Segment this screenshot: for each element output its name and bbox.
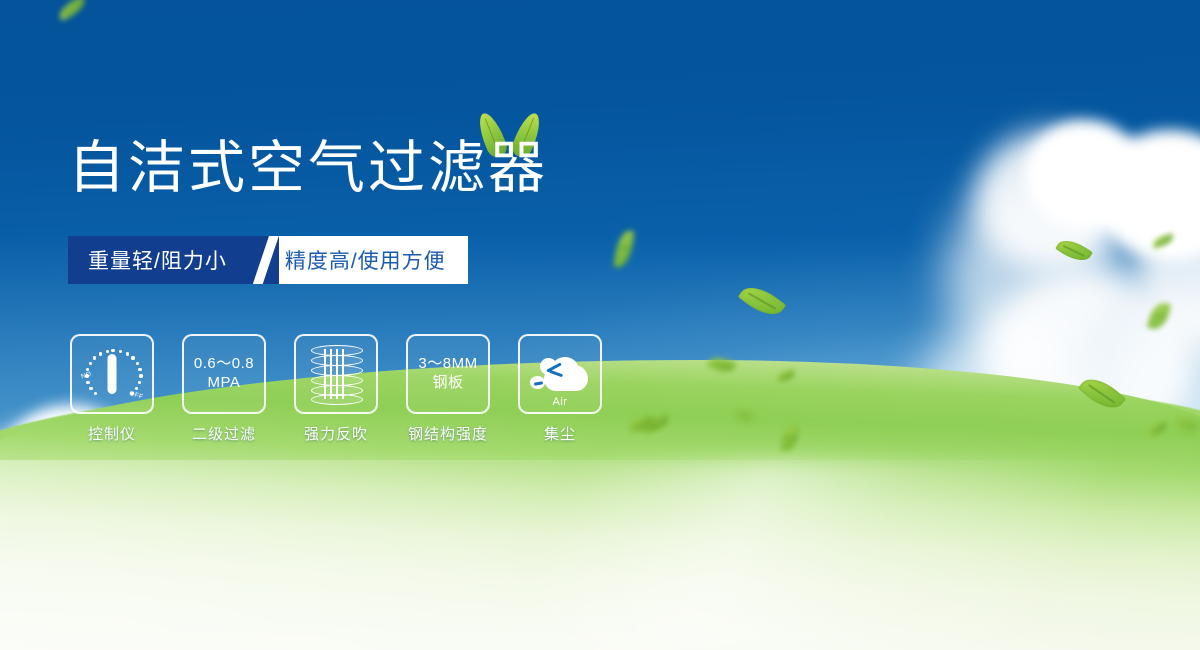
filter-stack-icon <box>311 345 361 403</box>
feature-label: 控制仪 <box>88 423 136 444</box>
steel-line-2: 钢板 <box>418 374 477 393</box>
air-cloud-icon: Air <box>530 355 590 395</box>
feature-label: 集尘 <box>544 423 576 444</box>
feature-icon-box: NO OFF <box>70 334 154 414</box>
page-title: 自洁式空气过滤器 <box>68 140 548 197</box>
feature-item-dust[interactable]: Air 集尘 <box>516 334 604 444</box>
pressure-line-1: 0.6～0.8 <box>194 355 254 374</box>
feature-item-filtration[interactable]: 0.6～0.8 MPA 二级过滤 <box>180 334 268 444</box>
subtitle-right: 精度高/使用方便 <box>279 236 468 284</box>
feature-icon-box <box>294 334 378 414</box>
dial-off-label: OFF <box>128 390 144 401</box>
dial-needle <box>108 354 117 394</box>
air-label: Air <box>553 396 568 408</box>
subtitle-left: 重量轻/阻力小 <box>68 236 253 284</box>
subtitle-banner: 重量轻/阻力小 精度高/使用方便 <box>68 236 468 284</box>
control-dial-icon: NO OFF <box>81 345 143 403</box>
feature-icon-box: 0.6～0.8 MPA <box>182 334 266 414</box>
subtitle-divider <box>253 236 279 284</box>
feature-label: 钢结构强度 <box>408 423 488 444</box>
promo-banner: 自洁式空气过滤器 重量轻/阻力小 精度高/使用方便 <box>0 0 1200 650</box>
pressure-line-2: MPA <box>194 374 254 393</box>
feature-icon-box: Air <box>518 334 602 414</box>
feature-item-steel[interactable]: 3～8MM 钢板 钢结构强度 <box>404 334 492 444</box>
steel-line-1: 3～8MM <box>418 355 477 374</box>
feature-list: NO OFF 控制仪 0.6～0.8 MPA 二级过滤 <box>68 334 604 444</box>
dial-no-label: NO <box>80 371 92 381</box>
feature-icon-box: 3～8MM 钢板 <box>406 334 490 414</box>
feature-label: 二级过滤 <box>192 423 256 444</box>
feature-label: 强力反吹 <box>304 423 368 444</box>
pressure-text-icon: 0.6～0.8 MPA <box>194 355 254 393</box>
feature-item-blowback[interactable]: 强力反吹 <box>292 334 380 444</box>
steel-plate-text-icon: 3～8MM 钢板 <box>418 355 477 393</box>
feature-item-control[interactable]: NO OFF 控制仪 <box>68 334 156 444</box>
